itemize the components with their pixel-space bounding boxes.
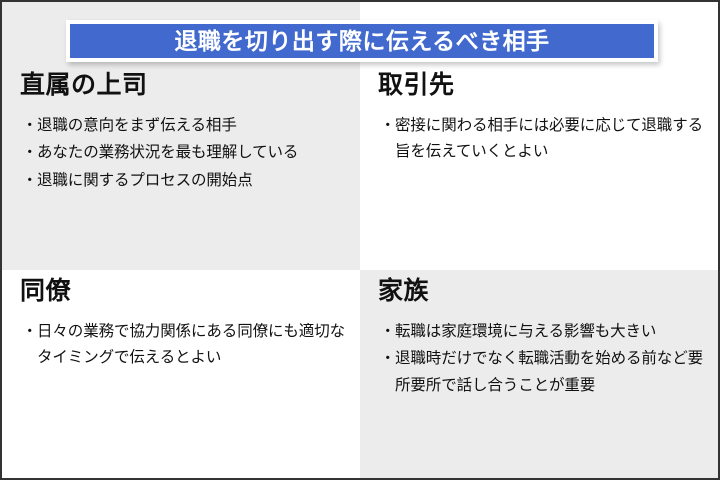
list-item: ・ 日々の業務で協力関係にある同僚にも適切なタイミングで伝えるとよい	[22, 319, 346, 372]
list-item: ・ 退職に関するプロセスの開始点	[22, 168, 346, 195]
quadrant-bottom-right: 家族 ・ 転職は家庭環境に与える影響も大きい ・ 退職時だけでなく転職活動を始め…	[360, 278, 718, 400]
bullet-dot-icon: ・	[22, 168, 37, 195]
list-item: ・ 退職の意向をまず伝える相手	[22, 113, 346, 140]
bullet-list-top-left: ・ 退職の意向をまず伝える相手 ・ あなたの業務状況を最も理解している ・ 退職…	[2, 113, 360, 195]
bullet-dot-icon: ・	[22, 140, 37, 167]
bullet-list-top-right: ・ 密接に関わる相手には必要に応じて退職する旨を伝えていくとよい	[360, 113, 718, 166]
list-item-text: 退職時だけでなく転職活動を始める前など要所要所で話し合うことが重要	[395, 350, 703, 394]
quadrant-top-left: 直属の上司 ・ 退職の意向をまず伝える相手 ・ あなたの業務状況を最も理解してい…	[2, 72, 360, 195]
bullet-dot-icon: ・	[380, 319, 395, 346]
list-item: ・ 退職時だけでなく転職活動を始める前など要所要所で話し合うことが重要	[380, 346, 704, 399]
bullet-dot-icon: ・	[22, 319, 37, 346]
quadrant-heading-top-left: 直属の上司	[20, 72, 360, 100]
list-item-text: 転職は家庭環境に与える影響も大きい	[395, 323, 656, 340]
list-item: ・ 密接に関わる相手には必要に応じて退職する旨を伝えていくとよい	[380, 113, 704, 166]
slide-canvas: 退職を切り出す際に伝えるべき相手 直属の上司 ・ 退職の意向をまず伝える相手 ・…	[0, 0, 720, 480]
quadrant-heading-bottom-left: 同僚	[20, 278, 360, 306]
list-item-text: 密接に関わる相手には必要に応じて退職する旨を伝えていくとよい	[395, 117, 703, 161]
list-item: ・ あなたの業務状況を最も理解している	[22, 140, 346, 167]
list-item-text: 日々の業務で協力関係にある同僚にも適切なタイミングで伝えるとよい	[37, 323, 345, 367]
bullet-dot-icon: ・	[380, 346, 395, 373]
bullet-dot-icon: ・	[22, 113, 37, 140]
quadrant-bottom-left: 同僚 ・ 日々の業務で協力関係にある同僚にも適切なタイミングで伝えるとよい	[2, 278, 360, 373]
list-item-text: 退職に関するプロセスの開始点	[37, 172, 253, 189]
quadrant-heading-bottom-right: 家族	[378, 278, 718, 306]
bullet-list-bottom-right: ・ 転職は家庭環境に与える影響も大きい ・ 退職時だけでなく転職活動を始める前な…	[360, 319, 718, 400]
bullet-dot-icon: ・	[380, 113, 395, 140]
page-title: 退職を切り出す際に伝えるべき相手	[174, 30, 549, 53]
title-banner: 退職を切り出す際に伝えるべき相手	[66, 20, 658, 62]
list-item-text: 退職の意向をまず伝える相手	[37, 117, 237, 134]
list-item: ・ 転職は家庭環境に与える影響も大きい	[380, 319, 704, 346]
quadrant-heading-top-right: 取引先	[378, 72, 718, 100]
list-item-text: あなたの業務状況を最も理解している	[37, 144, 298, 161]
quadrant-top-right: 取引先 ・ 密接に関わる相手には必要に応じて退職する旨を伝えていくとよい	[360, 72, 718, 167]
bullet-list-bottom-left: ・ 日々の業務で協力関係にある同僚にも適切なタイミングで伝えるとよい	[2, 319, 360, 372]
